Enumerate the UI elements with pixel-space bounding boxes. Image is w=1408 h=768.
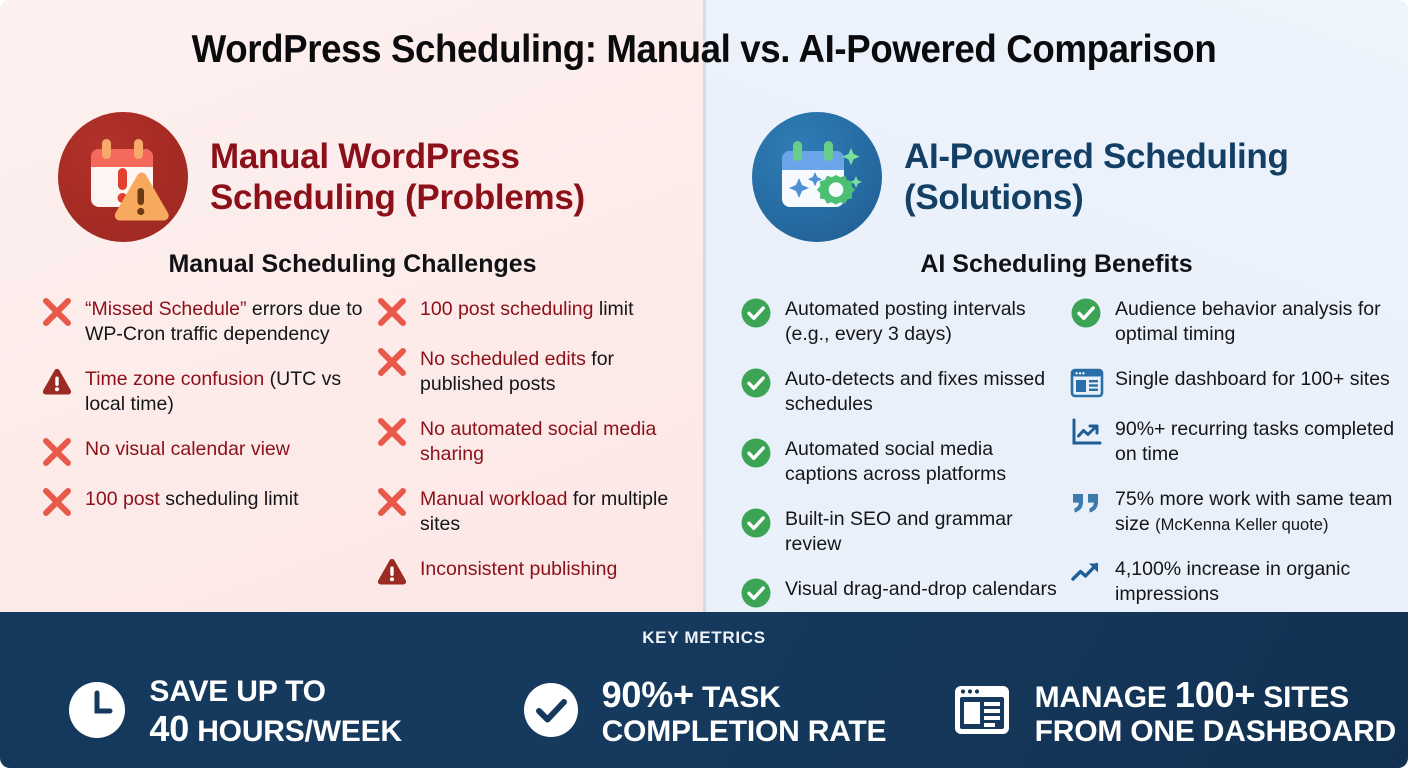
- list-item: Manual workload for multiple sites: [375, 486, 690, 537]
- metric-task-completion: 90%+ TASK COMPLETION RATE: [469, 662, 938, 762]
- list-item: Built-in SEO and grammar review: [740, 506, 1070, 557]
- list-column-1: “Missed Schedule” errors due to WP-Cron …: [40, 296, 375, 606]
- calendar-warning-icon: [58, 112, 188, 242]
- list-item: No scheduled edits for published posts: [375, 346, 690, 397]
- list-item: Visual drag-and-drop calendars: [740, 576, 1070, 607]
- list-item: Automated social media captions across p…: [740, 436, 1070, 487]
- list-item: 4,100% increase in organic impressions: [1070, 556, 1395, 607]
- list-item: No automated social media sharing: [375, 416, 690, 467]
- list-item-highlight: No visual calendar view: [85, 438, 290, 460]
- dashboard-white-icon: [951, 679, 1013, 746]
- x-mark-icon: [375, 417, 409, 447]
- list-item: 75% more work with same team size (McKen…: [1070, 486, 1395, 537]
- check-circle-icon: [740, 367, 774, 397]
- x-mark-icon: [375, 297, 409, 327]
- list-item-label: Single dashboard for 100+ sites: [1115, 366, 1390, 392]
- list-item: 90%+ recurring tasks completed on time: [1070, 416, 1395, 467]
- list-item-highlight: No automated social media sharing: [420, 418, 656, 465]
- metric-line1: SAVE UP TO: [149, 675, 325, 708]
- check-circle-icon: [740, 297, 774, 327]
- list-item-main: Audience behavior analysis for optimal t…: [1115, 298, 1381, 345]
- problems-list: “Missed Schedule” errors due to WP-Cron …: [40, 296, 690, 606]
- check-circle-filled-icon: [522, 681, 580, 744]
- list-item-label: No visual calendar view: [85, 436, 290, 462]
- page-title: WordPress Scheduling: Manual vs. AI-Powe…: [42, 28, 1366, 72]
- metric-manage-sites: MANAGE 100+ SITES FROM ONE DASHBOARD: [939, 662, 1408, 762]
- problems-title: Manual WordPress Scheduling (Problems): [210, 136, 630, 219]
- list-item-main: Visual drag-and-drop calendars: [785, 578, 1057, 600]
- warning-triangle-icon: [40, 367, 74, 397]
- solutions-header: AI-Powered Scheduling (Solutions): [752, 112, 1334, 242]
- list-column-2: Audience behavior analysis for optimal t…: [1070, 296, 1395, 626]
- list-item-label: Visual drag-and-drop calendars: [785, 576, 1057, 602]
- list-item-highlight: 100 post scheduling: [420, 298, 593, 320]
- metric-line1-big: 100+: [1175, 674, 1255, 715]
- calendar-ai-gear-icon: [752, 112, 882, 242]
- metric-line1-big: 90%+: [602, 674, 694, 715]
- metric-manage-sites-text: MANAGE 100+ SITES FROM ONE DASHBOARD: [1035, 675, 1396, 749]
- key-metrics-bar: KEY METRICS SAVE UP TO 40 HOURS/WEEK: [0, 612, 1408, 768]
- list-item: Auto-detects and fixes missed schedules: [740, 366, 1070, 417]
- metric-save-hours-text: SAVE UP TO 40 HOURS/WEEK: [149, 675, 401, 749]
- metric-line1-rest: TASK: [694, 681, 781, 714]
- metric-line1-prefix: MANAGE: [1035, 681, 1175, 714]
- trend-arrow-icon: [1070, 557, 1104, 587]
- list-item-label: 100 post scheduling limit: [85, 486, 299, 512]
- problems-subheading: Manual Scheduling Challenges: [0, 250, 705, 279]
- list-item-label: 90%+ recurring tasks completed on time: [1115, 416, 1395, 467]
- list-item-label: Time zone confusion (UTC vs local time): [85, 366, 375, 417]
- x-mark-icon: [375, 487, 409, 517]
- solutions-title: AI-Powered Scheduling (Solutions): [904, 136, 1334, 219]
- list-item-main: Auto-detects and fixes missed schedules: [785, 368, 1045, 415]
- list-item-label: Auto-detects and fixes missed schedules: [785, 366, 1070, 417]
- line-chart-icon: [1070, 417, 1104, 447]
- list-item-label: 75% more work with same team size (McKen…: [1115, 486, 1395, 537]
- list-item-label: Automated posting intervals (e.g., every…: [785, 296, 1070, 347]
- list-item-label: Audience behavior analysis for optimal t…: [1115, 296, 1395, 347]
- list-item-label: No automated social media sharing: [420, 416, 690, 467]
- check-circle-icon: [740, 577, 774, 607]
- check-circle-icon: [1070, 297, 1104, 327]
- list-item-highlight: No scheduled edits: [420, 348, 586, 370]
- warning-triangle-icon: [375, 557, 409, 587]
- list-item: Single dashboard for 100+ sites: [1070, 366, 1395, 397]
- list-item-main: Built-in SEO and grammar review: [785, 508, 1013, 555]
- solutions-list: Automated posting intervals (e.g., every…: [740, 296, 1395, 626]
- list-item-highlight: Time zone confusion: [85, 368, 264, 390]
- list-item-rest: scheduling limit: [160, 488, 299, 510]
- list-item: Time zone confusion (UTC vs local time): [40, 366, 375, 417]
- x-mark-icon: [40, 487, 74, 517]
- list-item-label: Automated social media captions across p…: [785, 436, 1070, 487]
- list-item-label: Built-in SEO and grammar review: [785, 506, 1070, 557]
- list-item-label: No scheduled edits for published posts: [420, 346, 690, 397]
- dashboard-icon: [1070, 367, 1104, 397]
- x-mark-icon: [40, 297, 74, 327]
- list-item-main: Automated posting intervals (e.g., every…: [785, 298, 1026, 345]
- list-item: Automated posting intervals (e.g., every…: [740, 296, 1070, 347]
- list-item-main: Automated social media captions across p…: [785, 438, 1006, 485]
- metric-save-hours: SAVE UP TO 40 HOURS/WEEK: [0, 662, 469, 762]
- solutions-subheading: AI Scheduling Benefits: [705, 250, 1408, 279]
- metric-task-completion-text: 90%+ TASK COMPLETION RATE: [602, 675, 887, 749]
- x-mark-icon: [375, 347, 409, 377]
- list-item: 100 post scheduling limit: [375, 296, 690, 327]
- check-circle-icon: [740, 507, 774, 537]
- list-item-main: 4,100% increase in organic impressions: [1115, 558, 1350, 605]
- list-item-highlight: “Missed Schedule”: [85, 298, 246, 320]
- metric-line2-big: 40: [149, 708, 189, 749]
- list-item-note: (McKenna Keller quote): [1155, 516, 1328, 534]
- list-item-main: 90%+ recurring tasks completed on time: [1115, 418, 1394, 465]
- list-item: 100 post scheduling limit: [40, 486, 375, 517]
- clock-icon: [67, 680, 127, 745]
- metric-line2: FROM ONE DASHBOARD: [1035, 715, 1396, 748]
- list-column-1: Automated posting intervals (e.g., every…: [740, 296, 1070, 626]
- list-item-label: Inconsistent publishing: [420, 556, 617, 582]
- list-item-main: Single dashboard for 100+ sites: [1115, 368, 1390, 390]
- list-item: No visual calendar view: [40, 436, 375, 467]
- list-item-label: Manual workload for multiple sites: [420, 486, 690, 537]
- problems-header: Manual WordPress Scheduling (Problems): [58, 112, 630, 242]
- list-item-label: “Missed Schedule” errors due to WP-Cron …: [85, 296, 375, 347]
- list-item-highlight: Inconsistent publishing: [420, 558, 617, 580]
- list-item: “Missed Schedule” errors due to WP-Cron …: [40, 296, 375, 347]
- quote-icon: [1070, 487, 1104, 517]
- list-item-highlight: 100 post: [85, 488, 160, 510]
- metric-line2: COMPLETION RATE: [602, 715, 887, 748]
- list-column-2: 100 post scheduling limitNo scheduled ed…: [375, 296, 690, 606]
- list-item: Inconsistent publishing: [375, 556, 690, 587]
- list-item-rest: limit: [593, 298, 633, 320]
- metric-line1-suffix: SITES: [1255, 681, 1349, 714]
- panel-divider: [703, 0, 706, 612]
- list-item-label: 100 post scheduling limit: [420, 296, 634, 322]
- x-mark-icon: [40, 437, 74, 467]
- metric-line2-rest: HOURS/WEEK: [189, 715, 402, 748]
- list-item: Audience behavior analysis for optimal t…: [1070, 296, 1395, 347]
- list-item-label: 4,100% increase in organic impressions: [1115, 556, 1395, 607]
- check-circle-icon: [740, 437, 774, 467]
- key-metrics-row: SAVE UP TO 40 HOURS/WEEK 90%+ TASK COMPL…: [0, 662, 1408, 762]
- infographic-canvas: WordPress Scheduling: Manual vs. AI-Powe…: [0, 0, 1408, 768]
- list-item-highlight: Manual workload: [420, 488, 567, 510]
- key-metrics-label: KEY METRICS: [0, 628, 1408, 648]
